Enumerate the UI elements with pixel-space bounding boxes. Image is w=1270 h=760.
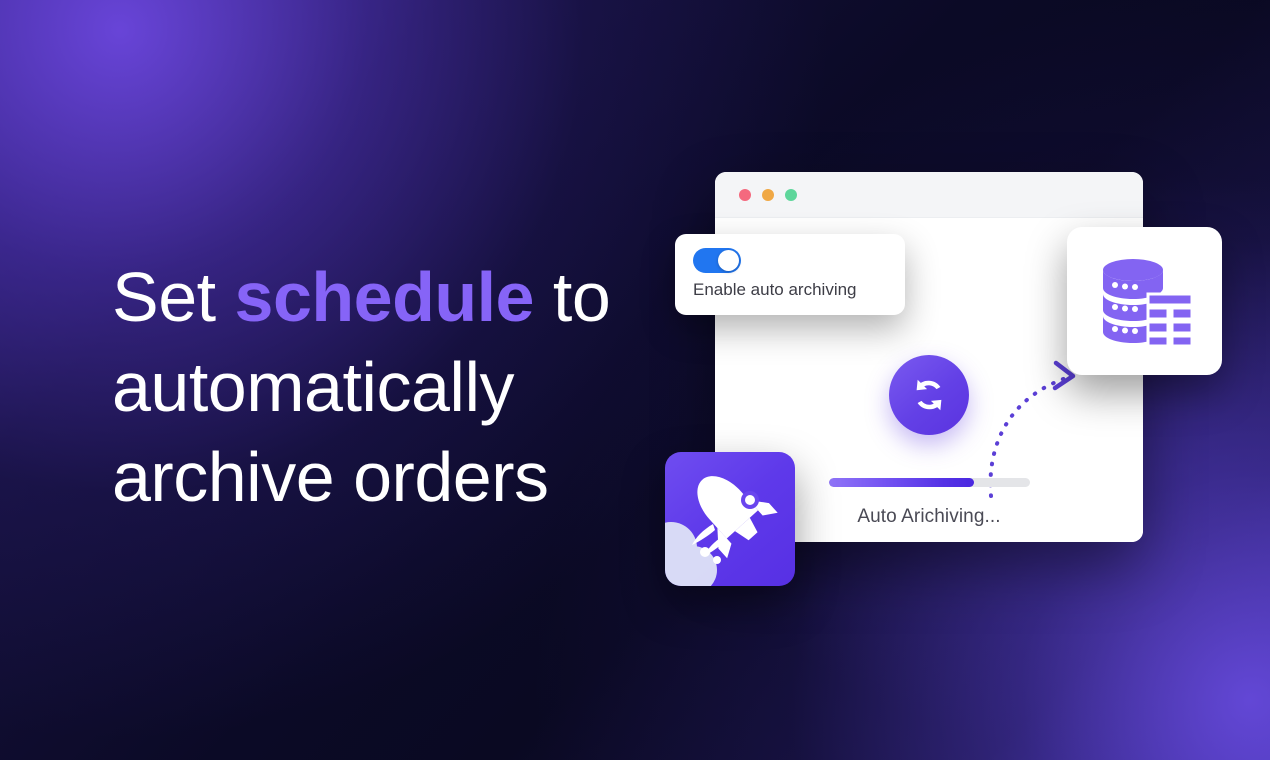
switch-knob bbox=[718, 250, 739, 271]
browser-titlebar bbox=[715, 172, 1143, 218]
progress-bar bbox=[829, 478, 1030, 487]
sync-refresh-icon bbox=[889, 355, 969, 435]
headline-line-1-pre: Set bbox=[112, 258, 235, 336]
headline-line-2: automatically bbox=[112, 348, 514, 426]
close-dot[interactable] bbox=[739, 189, 751, 201]
auto-archiving-toggle-card[interactable]: Enable auto archiving bbox=[675, 234, 905, 315]
auto-archiving-label: Enable auto archiving bbox=[693, 280, 887, 300]
minimize-dot[interactable] bbox=[762, 189, 774, 201]
headline-accent-word: schedule bbox=[235, 258, 534, 336]
page-title: Set schedule to automatically archive or… bbox=[112, 252, 652, 522]
rocket-icon bbox=[665, 452, 795, 586]
maximize-dot[interactable] bbox=[785, 189, 797, 201]
headline-line-3: archive orders bbox=[112, 438, 549, 516]
progress-bar-fill bbox=[829, 478, 974, 487]
database-stack-table-icon bbox=[1093, 253, 1197, 349]
database-card bbox=[1067, 227, 1222, 375]
rocket-tile bbox=[665, 452, 795, 586]
auto-archiving-switch[interactable] bbox=[693, 248, 741, 273]
headline-line-1-post: to bbox=[534, 258, 610, 336]
